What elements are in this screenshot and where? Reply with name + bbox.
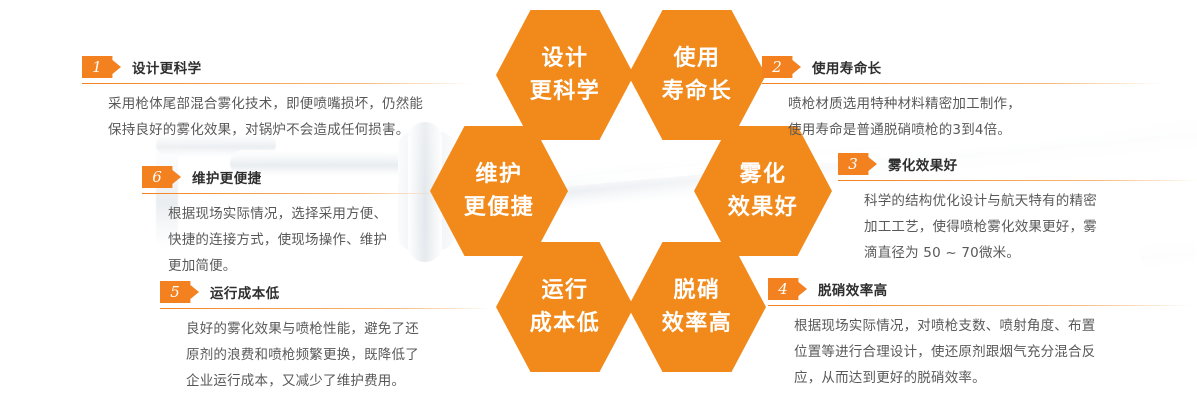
hexagon-design-line-1: 设计 (541, 42, 588, 75)
feature-4-title: 脱硝效率高 (818, 279, 888, 299)
number-badge-2-value: 2 (762, 56, 792, 78)
feature-4-body-line-3: 应，从而达到更好的脱硝效率。 (794, 365, 1193, 391)
feature-block-2: 2 使用寿命长 喷枪材质选用特种材料精密加工制作， 使用寿命是普通脱硝喷枪的3到… (762, 55, 1162, 143)
feature-3-body-line-3: 滴直径为 50 ~ 70微米。 (864, 240, 1197, 266)
feature-1-body-line-1: 采用枪体尾部混合雾化技术，即便喷嘴损坏，仍然能 (108, 91, 472, 117)
hexagon-lifespan-line-1: 使用 (673, 42, 720, 75)
hexagon-lifespan-line-2: 寿命长 (662, 75, 733, 108)
feature-2-header: 2 使用寿命长 (762, 55, 1162, 79)
hexagon-maintenance-line-1: 维护 (475, 158, 522, 191)
hexagon-cost-line-2: 成本低 (530, 307, 601, 340)
feature-4-body-line-2: 位置等进行合理设计，使还原剂跟烟气充分混合反 (794, 339, 1193, 365)
number-badge-1-icon: 1 (82, 56, 121, 78)
hexagon-design[interactable]: 设计 更科学 (496, 8, 634, 142)
feature-5-header: 5 运行成本低 (160, 280, 490, 304)
feature-6-body: 根据现场实际情况，选择采用方便、 快捷的连接方式，使现场操作、维护 更加简便。 (142, 201, 442, 279)
feature-3-header: 3 雾化效果好 (838, 152, 1197, 176)
feature-2-body-line-1: 喷枪材质选用特种材料精密加工制作， (788, 91, 1162, 117)
number-badge-4-value: 4 (768, 278, 798, 300)
hexagon-denitration-line-2: 效率高 (662, 307, 733, 340)
hexagon-cost[interactable]: 运行 成本低 (496, 240, 634, 374)
hexagon-design-line-2: 更科学 (530, 75, 601, 108)
feature-1-body: 采用枪体尾部混合雾化技术，即便喷嘴损坏，仍然能 保持良好的雾化效果，对锅炉不会造… (82, 91, 472, 143)
feature-block-5: 5 运行成本低 良好的雾化效果与喷枪性能，避免了还 原剂的浪费和喷枪频繁更换，既… (160, 280, 490, 394)
feature-block-4: 4 脱硝效率高 根据现场实际情况，对喷枪支数、喷射角度、布置 位置等进行合理设计… (768, 277, 1193, 391)
feature-5-body-line-1: 良好的雾化效果与喷枪性能，避免了还 (186, 316, 490, 342)
feature-6-body-line-3: 更加简便。 (168, 253, 442, 279)
feature-2-divider (762, 83, 1162, 84)
feature-1-header: 1 设计更科学 (82, 55, 472, 79)
feature-4-body: 根据现场实际情况，对喷枪支数、喷射角度、布置 位置等进行合理设计，使还原剂跟烟气… (768, 313, 1193, 391)
number-badge-2-icon: 2 (762, 56, 801, 78)
feature-6-body-line-1: 根据现场实际情况，选择采用方便、 (168, 201, 442, 227)
hexagon-maintenance[interactable]: 维护 更便捷 (430, 124, 568, 258)
feature-1-divider (82, 83, 472, 84)
hexagon-maintenance-line-2: 更便捷 (464, 191, 535, 224)
feature-1-body-line-2: 保持良好的雾化效果，对锅炉不会造成任何损害。 (108, 117, 472, 143)
feature-4-header: 4 脱硝效率高 (768, 277, 1193, 301)
hexagon-atomization[interactable]: 雾化 效果好 (694, 124, 832, 258)
feature-2-title: 使用寿命长 (812, 57, 882, 77)
hexagon-lifespan[interactable]: 使用 寿命长 (628, 8, 766, 142)
feature-5-body: 良好的雾化效果与喷枪性能，避免了还 原剂的浪费和喷枪频繁更换，既降低了 企业运行… (160, 316, 490, 394)
feature-block-1: 1 设计更科学 采用枪体尾部混合雾化技术，即便喷嘴损坏，仍然能 保持良好的雾化效… (82, 55, 472, 143)
number-badge-6-value: 6 (142, 166, 172, 188)
feature-5-body-line-3: 企业运行成本，又减少了维护费用。 (186, 368, 490, 394)
feature-6-title: 维护更便捷 (192, 167, 262, 187)
feature-1-title: 设计更科学 (132, 57, 202, 77)
feature-3-body-line-1: 科学的结构优化设计与航天特有的精密 (864, 188, 1197, 214)
feature-4-body-line-1: 根据现场实际情况，对喷枪支数、喷射角度、布置 (794, 313, 1193, 339)
number-badge-4-icon: 4 (768, 278, 807, 300)
hexagon-atomization-line-2: 效果好 (728, 191, 799, 224)
number-badge-5-value: 5 (160, 281, 190, 303)
feature-3-title: 雾化效果好 (888, 154, 958, 174)
infographic-canvas: 设计 更科学 使用 寿命长 维护 更便捷 雾化 效果好 运行 成本低 脱硝 效率… (0, 0, 1197, 413)
feature-3-body-line-2: 加工工艺，使得喷枪雾化效果更好，雾 (864, 214, 1197, 240)
feature-5-body-line-2: 原剂的浪费和喷枪频繁更换，既降低了 (186, 342, 490, 368)
feature-3-divider (838, 180, 1197, 181)
number-badge-5-icon: 5 (160, 281, 199, 303)
hexagon-denitration[interactable]: 脱硝 效率高 (628, 240, 766, 374)
hexagon-denitration-line-1: 脱硝 (673, 274, 720, 307)
number-badge-3-icon: 3 (838, 153, 877, 175)
feature-block-6: 6 维护更便捷 根据现场实际情况，选择采用方便、 快捷的连接方式，使现场操作、维… (142, 165, 442, 279)
feature-5-title: 运行成本低 (210, 282, 280, 302)
feature-block-3: 3 雾化效果好 科学的结构优化设计与航天特有的精密 加工工艺，使得喷枪雾化效果更… (838, 152, 1197, 266)
feature-6-body-line-2: 快捷的连接方式，使现场操作、维护 (168, 227, 442, 253)
feature-3-body: 科学的结构优化设计与航天特有的精密 加工工艺，使得喷枪雾化效果更好，雾 滴直径为… (838, 188, 1197, 266)
number-badge-3-value: 3 (838, 153, 868, 175)
feature-6-divider (142, 193, 442, 194)
number-badge-6-icon: 6 (142, 166, 181, 188)
number-badge-1-value: 1 (82, 56, 112, 78)
feature-2-body-line-2: 使用寿命是普通脱硝喷枪的3到4倍。 (788, 117, 1162, 143)
feature-5-divider (160, 308, 490, 309)
feature-4-divider (768, 305, 1193, 306)
hexagon-atomization-line-1: 雾化 (739, 158, 786, 191)
hexagon-cost-line-1: 运行 (541, 274, 588, 307)
feature-2-body: 喷枪材质选用特种材料精密加工制作， 使用寿命是普通脱硝喷枪的3到4倍。 (762, 91, 1162, 143)
feature-6-header: 6 维护更便捷 (142, 165, 442, 189)
